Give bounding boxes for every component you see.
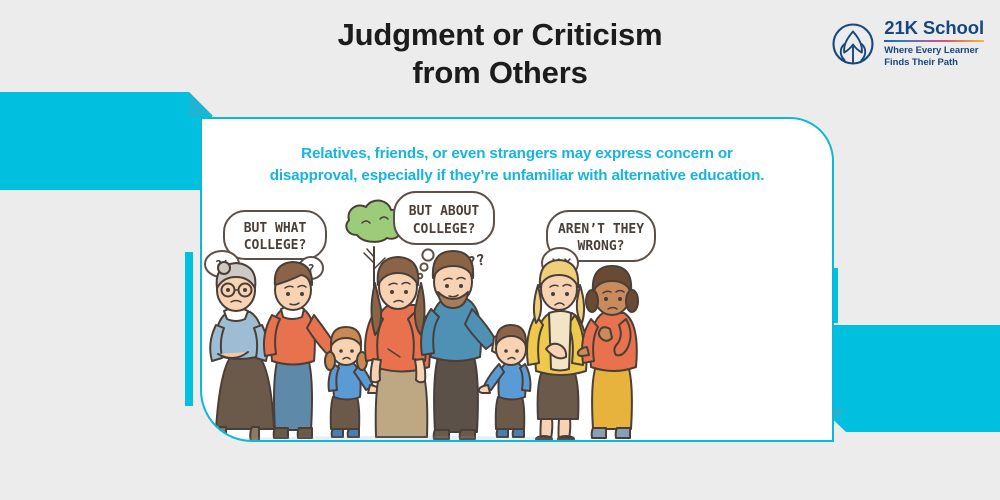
page-title: Judgment or Criticism from Others [150, 16, 850, 92]
svg-text:WRONG?: WRONG? [578, 239, 625, 254]
page-title-line-1: Judgment or Criticism [150, 16, 850, 54]
brand-tagline: Where Every Learner Finds Their Path [884, 45, 984, 69]
decor-left-teal-bar [185, 252, 193, 406]
decor-right-teal-block [822, 325, 1000, 432]
svg-text:BUT ABOUT: BUT ABOUT [409, 204, 480, 219]
page-title-line-2: from Others [150, 54, 850, 92]
svg-text:BUT WHAT: BUT WHAT [244, 221, 307, 236]
svg-text:COLLEGE?: COLLEGE? [413, 222, 476, 237]
family-group-criticism-illustration: .ol{fill:none;stroke:#4a3f38;stroke-widt… [202, 189, 834, 442]
lotus-circle-icon [831, 22, 875, 66]
svg-text:COLLEGE?: COLLEGE? [244, 238, 307, 253]
card-subtitle: Relatives, friends, or even strangers ma… [218, 143, 816, 187]
figure-woman-right [578, 266, 638, 438]
brand-text-block: 21K School Where Every Learner Finds The… [884, 19, 984, 69]
brand-tagline-line-1: Where Every Learner [884, 45, 984, 57]
card-subtitle-line-1: Relatives, friends, or even strangers ma… [218, 143, 816, 165]
brand-name: 21K School [884, 19, 984, 38]
brand-tagline-line-2: Finds Their Path [884, 57, 984, 69]
decor-left-teal-notch [189, 92, 213, 116]
brand-logo[interactable]: 21K School Where Every Learner Finds The… [831, 19, 984, 69]
svg-text:AREN’T THEY: AREN’T THEY [558, 222, 644, 237]
slide-canvas: Judgment or Criticism from Others 21K Sc… [0, 0, 1000, 500]
card-subtitle-line-2: disapproval, especially if they’re unfam… [218, 165, 816, 187]
brand-gradient-rule [884, 40, 984, 43]
content-card: Relatives, friends, or even strangers ma… [200, 117, 834, 442]
decor-left-teal-block [0, 92, 212, 190]
